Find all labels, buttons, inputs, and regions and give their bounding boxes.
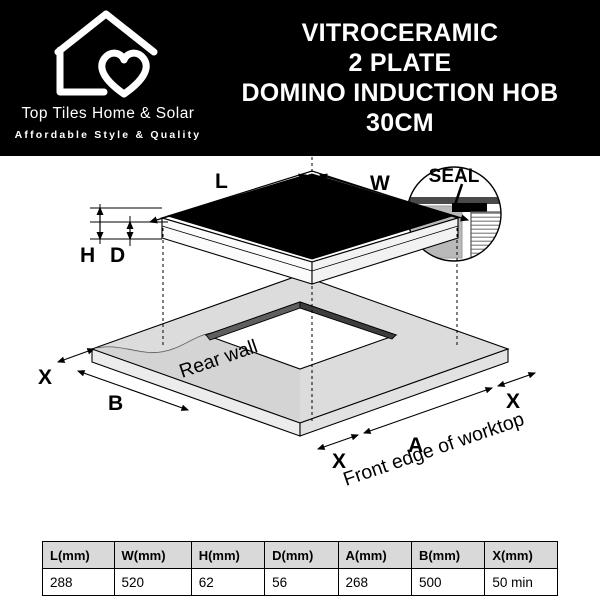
table-cell: 288 xyxy=(43,569,115,596)
title-line-1: VITROCERAMIC xyxy=(302,18,499,48)
brand-name: Top Tiles Home & Solar xyxy=(22,105,195,123)
dimension-table-wrapper: L(mm) W(mm) H(mm) D(mm) A(mm) B(mm) X(mm… xyxy=(42,541,558,596)
dimension-W-label: W xyxy=(370,172,390,195)
table-header-cell: B(mm) xyxy=(411,542,484,569)
seal-label: SEAL xyxy=(429,166,480,187)
table-header-cell: A(mm) xyxy=(338,542,411,569)
table-cell: 62 xyxy=(191,569,264,596)
header-banner: Top Tiles Home & Solar Affordable Style … xyxy=(0,0,600,156)
brand-tagline: Affordable Style & Quality xyxy=(15,129,202,141)
table-header-row: L(mm) W(mm) H(mm) D(mm) A(mm) B(mm) X(mm… xyxy=(43,542,558,569)
table-header-cell: W(mm) xyxy=(114,542,191,569)
worktop-slab xyxy=(92,275,508,436)
table-header-cell: X(mm) xyxy=(485,542,558,569)
table-cell: 56 xyxy=(265,569,338,596)
installation-diagram: SEAL xyxy=(0,156,600,530)
dimension-X-left-label: X xyxy=(38,366,52,389)
dimension-B-label: B xyxy=(108,392,123,415)
hob-unit xyxy=(162,171,458,284)
table-header-cell: L(mm) xyxy=(43,542,115,569)
title-line-4: 30CM xyxy=(366,108,434,138)
table-cell: 50 min xyxy=(485,569,558,596)
title-line-2: 2 PLATE xyxy=(348,48,451,78)
dimension-D-label: D xyxy=(110,244,125,267)
front-edge-label: Front edge of worktop xyxy=(340,408,527,491)
table-cell: 500 xyxy=(411,569,484,596)
dimension-L-label: L xyxy=(215,170,228,193)
table-header-cell: D(mm) xyxy=(265,542,338,569)
table-cell: 268 xyxy=(338,569,411,596)
dimension-table: L(mm) W(mm) H(mm) D(mm) A(mm) B(mm) X(mm… xyxy=(42,541,558,596)
dimension-X-right: X xyxy=(498,373,535,413)
product-title: VITROCERAMIC 2 PLATE DOMINO INDUCTION HO… xyxy=(200,0,600,156)
brand-block: Top Tiles Home & Solar Affordable Style … xyxy=(8,4,208,154)
house-heart-icon xyxy=(48,8,168,104)
table-header-cell: H(mm) xyxy=(191,542,264,569)
product-spec-page: Top Tiles Home & Solar Affordable Style … xyxy=(0,0,600,600)
dimension-X-left: X xyxy=(38,349,94,389)
table-row: 288 520 62 56 268 500 50 min xyxy=(43,569,558,596)
title-line-3: DOMINO INDUCTION HOB xyxy=(241,78,558,108)
table-cell: 520 xyxy=(114,569,191,596)
diagram-svg: SEAL xyxy=(0,156,600,530)
dimension-H-label: H xyxy=(80,244,95,267)
dimension-H-D: H D xyxy=(80,204,168,267)
